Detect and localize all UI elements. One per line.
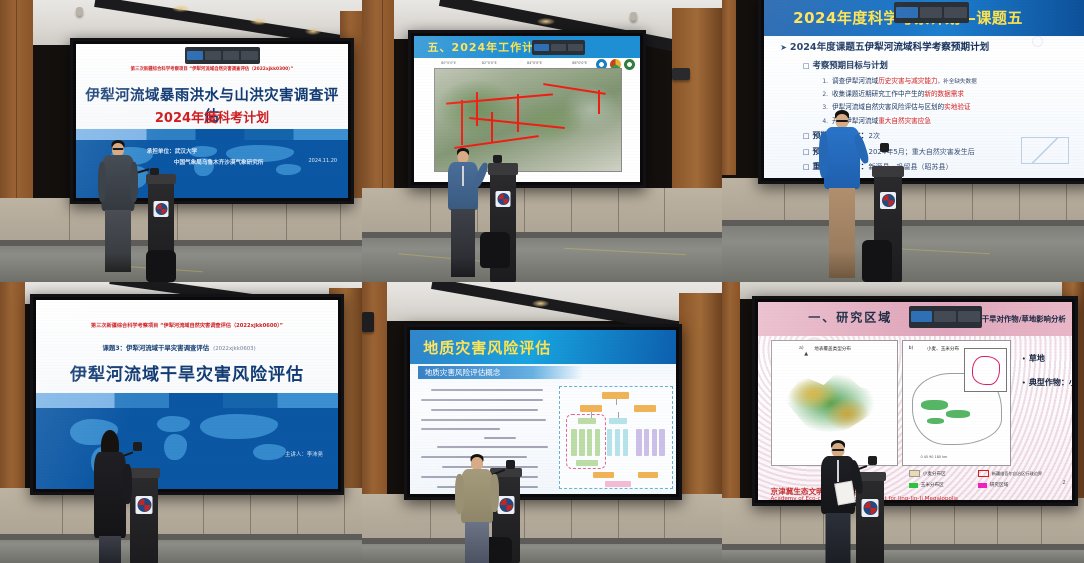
wall-panel bbox=[972, 178, 1020, 224]
wall-panel bbox=[524, 188, 572, 238]
flow-node bbox=[609, 418, 627, 424]
podium-top bbox=[146, 174, 176, 184]
legend-swatch bbox=[909, 483, 918, 488]
microphone-head bbox=[133, 442, 142, 451]
item-number: 1. bbox=[822, 78, 828, 85]
bullet-row: • 典型作物：小麦、玉米 bbox=[1022, 377, 1072, 388]
wall-panels bbox=[362, 188, 722, 238]
wall-panel bbox=[177, 198, 232, 246]
item-text: 调查伊犁河流域 bbox=[832, 75, 878, 85]
subject-row: 课题3：伊犁河流域干旱灾害调查评估 (2022xjkk0603) bbox=[102, 343, 255, 352]
slide-header-right: 干旱对作物/草地影响分析 bbox=[982, 313, 1066, 324]
list-item: 1. 调查伊犁河流域 历史灾害与减灾能力 ，补全缺失数据 bbox=[822, 75, 976, 85]
slide-title-sub: 2024年度科考计划 bbox=[84, 107, 340, 126]
body-text-line bbox=[431, 409, 537, 411]
equipment-bag bbox=[480, 232, 510, 268]
podium-emblem bbox=[498, 496, 515, 514]
presenter-arm bbox=[455, 474, 464, 514]
presenter-legs bbox=[465, 522, 489, 563]
floor bbox=[722, 544, 1084, 563]
subject-code: (2022xjkk0603) bbox=[213, 346, 256, 352]
presenter-toolbar[interactable] bbox=[532, 40, 586, 55]
square-bullet-icon: □ bbox=[803, 132, 810, 140]
dot-bullet-icon: • bbox=[1022, 379, 1026, 387]
microphone-head bbox=[493, 155, 502, 163]
square-bullet-icon: □ bbox=[803, 163, 810, 171]
project-line: 第三次新疆综合科学考察项目 “伊犁河流域自然灾害调查评估（2022xjkk060… bbox=[48, 323, 326, 330]
speaker-label: 主讲人：李沛尧 bbox=[285, 450, 323, 458]
stage-edge bbox=[0, 534, 362, 540]
lead-bullet-row: ➤ 2024年度课题五伊犁河流域科学考察预期计划 bbox=[780, 39, 989, 53]
item-highlight: 实地验证 bbox=[944, 101, 970, 111]
dot-bullet-icon: • bbox=[1022, 355, 1026, 363]
slide-title-main: 伊犁河流域干旱灾害风险评估 bbox=[45, 360, 329, 385]
lanyard bbox=[837, 460, 839, 482]
flow-leaf bbox=[623, 429, 629, 455]
wall-panel bbox=[925, 178, 973, 224]
presenter-arm bbox=[123, 464, 132, 504]
panel-5-bottom-center: 地质灾害风险评估 地质灾害风险评估概念 bbox=[362, 282, 722, 563]
map-axis-label: 80°0'0"E bbox=[441, 61, 456, 65]
slide-header-bar: 五、2024年工作计划 bbox=[414, 36, 640, 58]
floor bbox=[0, 240, 362, 282]
panel-3-top-right: 2024年度科学考察计划—课题五 北京师范大学 ➤ 2024年度课题五伊犁河流域… bbox=[722, 0, 1084, 282]
square-bullet-icon: □ bbox=[803, 148, 810, 156]
wall-panel bbox=[297, 488, 345, 540]
section-text: 考察预期目标与计划 bbox=[813, 59, 888, 71]
wall-panel bbox=[1019, 178, 1067, 224]
legend-label: 玉米分布区 bbox=[921, 482, 944, 488]
ceiling-light bbox=[305, 28, 321, 35]
wall-panel bbox=[286, 198, 341, 246]
flow-leaf bbox=[659, 429, 665, 455]
seal-icon bbox=[1032, 36, 1043, 47]
podium-top bbox=[488, 163, 518, 174]
subject-line: 课题3：伊犁河流域干旱灾害调查评估 bbox=[102, 343, 209, 352]
podium-emblem bbox=[154, 201, 169, 217]
body-text-line bbox=[431, 389, 543, 391]
flow-leaf bbox=[607, 429, 613, 455]
slide-date: 2024.11.20 bbox=[308, 158, 337, 164]
survey-route bbox=[543, 83, 605, 94]
survey-route bbox=[461, 100, 463, 145]
item-tail: ，补全缺失数据 bbox=[938, 77, 977, 85]
flow-leaf bbox=[615, 429, 621, 455]
paper-handout bbox=[834, 481, 856, 506]
presenter-1 bbox=[96, 140, 140, 282]
flow-node bbox=[638, 472, 658, 478]
floor-marking bbox=[564, 248, 686, 255]
glasses-icon bbox=[113, 148, 124, 150]
legend-entry: 研究区域 bbox=[978, 482, 1008, 488]
page-number: 2 bbox=[1063, 480, 1066, 486]
survey-route bbox=[517, 94, 519, 133]
microphone-head bbox=[868, 456, 877, 465]
microphone-head bbox=[506, 460, 515, 469]
legend-entry: 小麦分布区 bbox=[909, 470, 946, 477]
wall-panel bbox=[384, 188, 432, 238]
connector bbox=[618, 412, 619, 418]
podium-emblem bbox=[496, 191, 511, 207]
slide-surface: 第三次新疆综合科学考察项目 “伊犁河流域自然灾害调查评估（2022xjkk060… bbox=[36, 300, 338, 489]
arrow-bullet-icon: ➤ bbox=[780, 43, 787, 52]
stage-edge bbox=[362, 232, 722, 238]
presenter-arm bbox=[130, 162, 138, 202]
wall-panel bbox=[384, 494, 432, 542]
slide-header-text: 地质灾害风险评估 bbox=[410, 337, 551, 358]
flow-node-result bbox=[605, 481, 632, 487]
presenter-legs bbox=[451, 209, 475, 277]
band-stripe bbox=[36, 393, 338, 408]
item-highlight: 重大自然灾害应急 bbox=[878, 115, 931, 125]
presenter-arm bbox=[819, 132, 828, 178]
presenter-arm bbox=[98, 162, 106, 202]
landcover-raster bbox=[782, 358, 887, 448]
wall-panel bbox=[618, 188, 666, 238]
legend-swatch bbox=[978, 470, 989, 477]
speaker-box-icon bbox=[362, 312, 374, 332]
map-axis-label: 84°0'0"E bbox=[527, 61, 542, 65]
led-screen-5: 地质灾害风险评估 地质灾害风险评估概念 bbox=[404, 324, 682, 500]
security-camera-icon bbox=[76, 7, 83, 16]
podium-4 bbox=[130, 472, 158, 563]
flow-node bbox=[634, 405, 656, 412]
university-logo: 北京师范大学 bbox=[1032, 36, 1082, 47]
panel-6-bottom-right: 一、研究区域 干旱对作物/草地影响分析 a) 地表覆盖类型分布 ▲ b) 小麦 bbox=[722, 282, 1084, 563]
highlight-group bbox=[566, 414, 606, 469]
panel-4-bottom-left: 第三次新疆综合科学考察项目 “伊犁河流域自然灾害调查评估（2022xjkk060… bbox=[0, 282, 362, 563]
lanyard bbox=[462, 166, 464, 186]
formula-line bbox=[484, 437, 516, 439]
ceiling-light bbox=[532, 300, 549, 307]
map-panel-b: b) 小麦、玉米分布 0 45 90 180 km bbox=[902, 340, 1011, 467]
bullet-text: 典型作物：小麦、玉米 bbox=[1029, 377, 1072, 388]
slide-header-bar: 地质灾害风险评估 bbox=[410, 330, 676, 364]
north-arrow-icon: ▲ bbox=[804, 351, 808, 357]
speaker-box-icon bbox=[672, 68, 690, 80]
presenter-legs bbox=[826, 513, 851, 563]
presenter-4 bbox=[86, 430, 134, 563]
map-label: b) bbox=[909, 346, 914, 351]
map-axis-label: 86°0'0"E bbox=[572, 61, 587, 65]
presenter-toolbar[interactable] bbox=[909, 306, 982, 328]
ceiling-light bbox=[250, 18, 268, 25]
legend-label: 研究区域 bbox=[990, 482, 1008, 488]
microphone-head bbox=[150, 168, 159, 175]
wall-panel bbox=[736, 178, 784, 224]
section-row: □ 考察预期目标与计划 bbox=[803, 59, 888, 71]
crop-area bbox=[946, 410, 969, 417]
wall-panels bbox=[722, 178, 1084, 224]
flow-node-root bbox=[602, 392, 629, 399]
security-camera-icon bbox=[630, 12, 637, 21]
survey-route bbox=[491, 112, 493, 143]
logo-icon bbox=[624, 59, 635, 70]
photo-collage-grid: 第三次新疆综合科学考察项目 “伊犁河流域自然灾害调查评估（2022xjkk030… bbox=[0, 0, 1084, 563]
slide-header-text: 五、2024年工作计划 bbox=[414, 39, 546, 55]
presenter-legs bbox=[105, 210, 131, 272]
fact-value: 2次 bbox=[869, 131, 880, 141]
slide-subheader-bar: 地质灾害风险评估概念 bbox=[418, 366, 583, 379]
university-name: 北京师范大学 bbox=[1046, 37, 1082, 46]
legend-label: 小麦分布区 bbox=[923, 471, 946, 477]
slide-watermark bbox=[1021, 137, 1068, 164]
bullet-text: 草地 bbox=[1029, 353, 1045, 364]
slide-surface: 一、研究区域 干旱对作物/草地影响分析 a) 地表覆盖类型分布 ▲ b) 小麦 bbox=[758, 302, 1072, 500]
item-number: 2. bbox=[822, 91, 828, 98]
connector bbox=[616, 399, 617, 405]
crop-area bbox=[921, 400, 949, 410]
wall-panel bbox=[14, 198, 69, 246]
flow-node bbox=[593, 472, 613, 478]
floor bbox=[362, 232, 722, 282]
stage-edge bbox=[722, 220, 1084, 226]
legend-label: 新疆维吾尔自治区行政边界 bbox=[992, 472, 1042, 476]
wood-wall-left bbox=[722, 0, 736, 175]
square-bullet-icon: □ bbox=[803, 62, 810, 70]
survey-route bbox=[598, 90, 600, 115]
wall-panel bbox=[571, 188, 619, 238]
bullet-row: • 草地 bbox=[1022, 353, 1045, 364]
project-line: 第三次新疆综合科学考察项目 “伊犁河流域自然灾害调查评估（2022xjkk030… bbox=[87, 67, 337, 73]
wall-panel bbox=[14, 488, 62, 540]
presenter-legs bbox=[829, 188, 855, 278]
legend-entry: 玉米分布区 bbox=[909, 482, 944, 488]
presenter-toolbar[interactable] bbox=[894, 2, 969, 23]
legend-swatch bbox=[909, 470, 920, 477]
presenter-legs bbox=[99, 536, 121, 563]
ceiling-light bbox=[537, 18, 555, 25]
floor bbox=[722, 220, 1084, 282]
region-outline bbox=[972, 356, 1000, 385]
wall-panel bbox=[618, 494, 666, 542]
presenter-2 bbox=[442, 148, 484, 282]
affiliation-line-1: 承担单位：武汉大学 bbox=[147, 147, 197, 155]
title-band: 主讲人：李沛尧 bbox=[36, 393, 338, 489]
presenter-toolbar[interactable] bbox=[185, 47, 260, 64]
band-stripe bbox=[76, 129, 348, 140]
item-highlight: 历史灾害与减灾能力 bbox=[878, 75, 937, 85]
list-item: 2. 收集课题近期研究工作中产生的 新的数据需求 bbox=[822, 88, 964, 98]
wall-panel bbox=[571, 494, 619, 542]
item-highlight: 新的数据需求 bbox=[924, 88, 964, 98]
body-text-line bbox=[421, 399, 543, 401]
wall-panels bbox=[362, 494, 722, 542]
scalebar-label: 0 45 90 180 km bbox=[921, 455, 948, 459]
wall-panel bbox=[203, 488, 251, 540]
crop-area bbox=[927, 418, 944, 424]
map-inset bbox=[964, 348, 1007, 392]
slide-surface: 2024年度科学考察计划—课题五 北京师范大学 ➤ 2024年度课题五伊犁河流域… bbox=[764, 0, 1084, 178]
survey-route bbox=[454, 135, 539, 148]
slide-surface: 地质灾害风险评估 地质灾害风险评估概念 bbox=[410, 330, 676, 494]
lead-bullet-text: 2024年度课题五伊犁河流域科学考察预期计划 bbox=[790, 39, 989, 53]
body-text-line bbox=[421, 419, 546, 421]
stage-edge bbox=[0, 240, 362, 246]
presenter-arm bbox=[490, 474, 499, 512]
slide-subheader-text: 地质灾害风险评估概念 bbox=[418, 367, 501, 378]
connector bbox=[591, 412, 592, 418]
presenter-6 bbox=[814, 440, 862, 563]
led-screen-6: 一、研究区域 干旱对作物/草地影响分析 a) 地表覆盖类型分布 ▲ b) 小麦 bbox=[752, 296, 1078, 506]
risk-flowchart bbox=[559, 386, 673, 490]
podium-emblem bbox=[880, 192, 896, 209]
wall-panels bbox=[0, 488, 362, 540]
led-screen-4: 第三次新疆综合科学考察项目 “伊犁河流域自然灾害调查评估（2022xjkk060… bbox=[30, 294, 344, 495]
presenter-3 bbox=[818, 110, 866, 282]
item-text: 收集课题近期研究工作中产生的 bbox=[832, 88, 924, 98]
map-axis-label: 82°0'0"E bbox=[482, 61, 497, 65]
floor bbox=[0, 534, 362, 563]
presenter-jacket bbox=[461, 469, 493, 523]
equipment-bag bbox=[146, 250, 176, 282]
panel-2-top-center: 五、2024年工作计划 bbox=[362, 0, 722, 282]
podium-emblem bbox=[136, 496, 153, 514]
floor bbox=[362, 538, 722, 563]
flow-leaf bbox=[644, 429, 650, 455]
microphone-head bbox=[880, 143, 889, 152]
ceiling-light bbox=[172, 5, 190, 12]
stage-edge bbox=[362, 538, 722, 544]
wall-panel bbox=[524, 494, 572, 542]
map-title: 地表覆盖类型分布 bbox=[814, 346, 851, 352]
map-title: 小麦、玉米分布 bbox=[927, 346, 959, 352]
wall-panel bbox=[250, 488, 298, 540]
presenter-coat bbox=[94, 452, 126, 538]
wall-panel bbox=[156, 488, 204, 540]
legend-entry: 新疆维吾尔自治区行政边界 bbox=[978, 470, 1042, 477]
survey-route bbox=[476, 92, 478, 127]
map-label: a) bbox=[799, 346, 803, 351]
glasses-icon bbox=[836, 120, 848, 122]
slide-header-text: 一、研究区域 bbox=[808, 309, 892, 326]
podium-emblem bbox=[862, 499, 879, 517]
wall-panels bbox=[0, 198, 362, 246]
glasses-icon bbox=[832, 449, 844, 451]
podium-top bbox=[872, 166, 904, 177]
panel-1-top-left: 第三次新疆综合科学考察项目 “伊犁河流域自然灾害调查评估（2022xjkk030… bbox=[0, 0, 362, 282]
legend-swatch bbox=[978, 483, 987, 488]
presenter-5 bbox=[454, 454, 500, 563]
flow-node bbox=[580, 405, 602, 412]
affiliation-line-2: 中国气象局乌鲁木齐沙漠气象研究所 bbox=[174, 158, 264, 166]
flow-leaf bbox=[636, 429, 642, 455]
wall-panel bbox=[232, 198, 287, 246]
stage-edge bbox=[722, 544, 1084, 550]
led-screen-3: 2024年度科学考察计划—课题五 北京师范大学 ➤ 2024年度课题五伊犁河流域… bbox=[758, 0, 1084, 184]
equipment-bag bbox=[862, 240, 892, 282]
flow-leaf bbox=[652, 429, 658, 455]
